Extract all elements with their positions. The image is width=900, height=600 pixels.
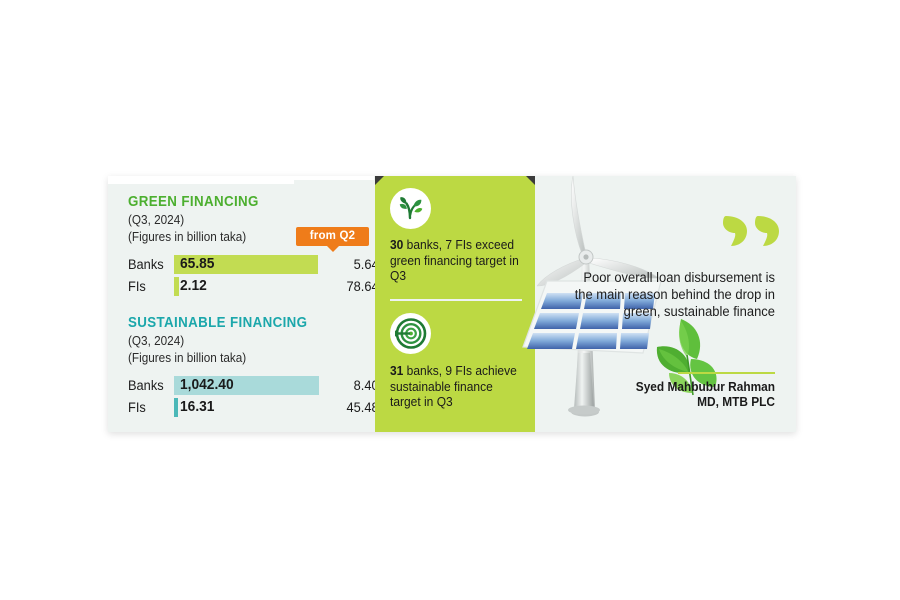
green-row-banks: Banks 65.85 5.64% ↓: [128, 254, 368, 275]
row-bar: [174, 398, 178, 417]
infographic-card: GREEN FINANCING (Q3, 2024) (Figures in b…: [108, 176, 796, 432]
green-financing-title: GREEN FINANCING: [128, 194, 259, 210]
row-label: FIs: [128, 397, 170, 418]
sustainable-row-fis: FIs 16.31 45.48% ↓: [128, 397, 368, 418]
quote-author-name: Syed Mahbubur Rahman: [585, 380, 775, 394]
sustainable-financing-title: SUSTAINABLE FINANCING: [128, 315, 307, 331]
sustainable-financing-period: (Q3, 2024): [128, 334, 184, 348]
row-label: FIs: [128, 276, 170, 297]
financing-data-panel: GREEN FINANCING (Q3, 2024) (Figures in b…: [108, 176, 375, 432]
sprout-icon: [390, 188, 431, 229]
row-value: 65.85: [180, 254, 214, 274]
quote-text: Poor overall loan disbursement is the ma…: [571, 269, 775, 320]
panel-fold-left-icon: [375, 176, 384, 185]
panel-fold-right-icon: [526, 176, 535, 185]
green-row-fis: FIs 2.12 78.64% ↓: [128, 276, 368, 297]
highlight-lead-1: 30: [390, 238, 403, 252]
row-bar: [174, 277, 179, 296]
green-financing-units: (Figures in billion taka): [128, 230, 246, 244]
from-q2-badge: from Q2: [296, 227, 369, 246]
target-icon: [390, 313, 431, 354]
row-label: Banks: [128, 375, 170, 396]
quote-divider: [678, 372, 775, 374]
sustainable-row-banks: Banks 1,042.40 8.40% ↓: [128, 375, 368, 396]
highlight-lead-2: 31: [390, 364, 403, 378]
row-value: 1,042.40: [180, 375, 234, 395]
quote-mark-icon: [722, 214, 784, 248]
quote-author-role: MD, MTB PLC: [585, 395, 775, 409]
quote-panel: Poor overall loan disbursement is the ma…: [535, 176, 796, 432]
sustainable-financing-units: (Figures in billion taka): [128, 351, 246, 365]
infographic-stage: GREEN FINANCING (Q3, 2024) (Figures in b…: [0, 0, 900, 600]
row-value: 2.12: [180, 276, 207, 296]
green-financing-period: (Q3, 2024): [128, 213, 184, 227]
row-label: Banks: [128, 254, 170, 275]
row-value: 16.31: [180, 397, 214, 417]
